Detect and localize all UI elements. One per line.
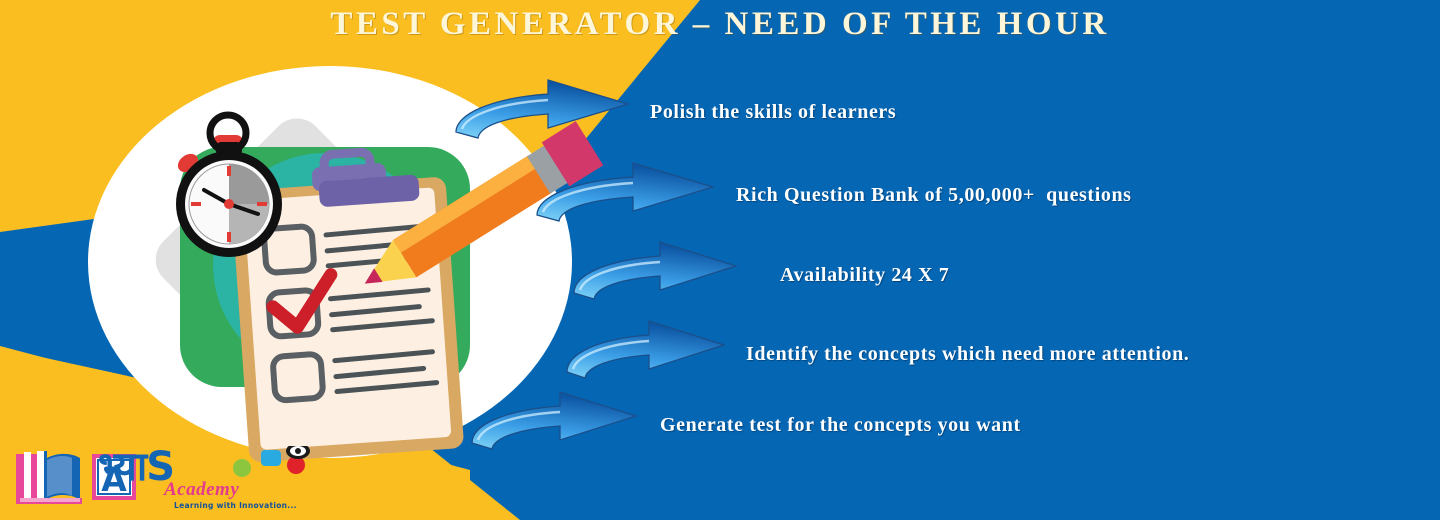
feature-label: Identify the concepts which need more at… [746,343,1189,366]
curved-arrow-right-icon [533,157,718,234]
feature-row: Polish the skills of learners [452,74,896,151]
feature-row: Availability 24 X 7 [570,237,949,314]
logo-tagline: Learning with Innovation... [174,501,297,510]
page-title: TEST GENERATOR – NEED OF THE HOUR [0,6,1440,43]
curved-arrow-right-icon [563,316,728,393]
curved-arrow-right-icon [452,74,632,151]
curved-arrow-right-icon [570,237,740,314]
brand-logo[interactable]: A भ्याS Academy Learning with Innovation… [14,446,324,512]
logo-decorative-dots [233,446,310,477]
feature-label: Polish the skills of learners [650,101,896,124]
logo-script-academy: Academy [164,479,239,501]
logo-word: भ्याS [98,444,174,490]
feature-label: Rich Question Bank of 5,00,000+ question… [736,184,1132,207]
curved-arrow-right-icon [468,387,640,464]
cyan-rounded-square [261,450,281,466]
open-book-icon [16,451,82,504]
feature-label: Availability 24 X 7 [780,264,949,287]
feature-row: Identify the concepts which need more at… [563,316,1189,393]
logo-word-devanagari: भ्या [98,444,146,490]
feature-row: Rich Question Bank of 5,00,000+ question… [533,157,1132,234]
promotional-banner: TEST GENERATOR – NEED OF THE HOUR Polish… [0,0,1440,520]
feature-label: Generate test for the concepts you want [660,414,1021,437]
feature-row: Generate test for the concepts you want [468,387,1021,464]
green-dot [233,459,251,477]
